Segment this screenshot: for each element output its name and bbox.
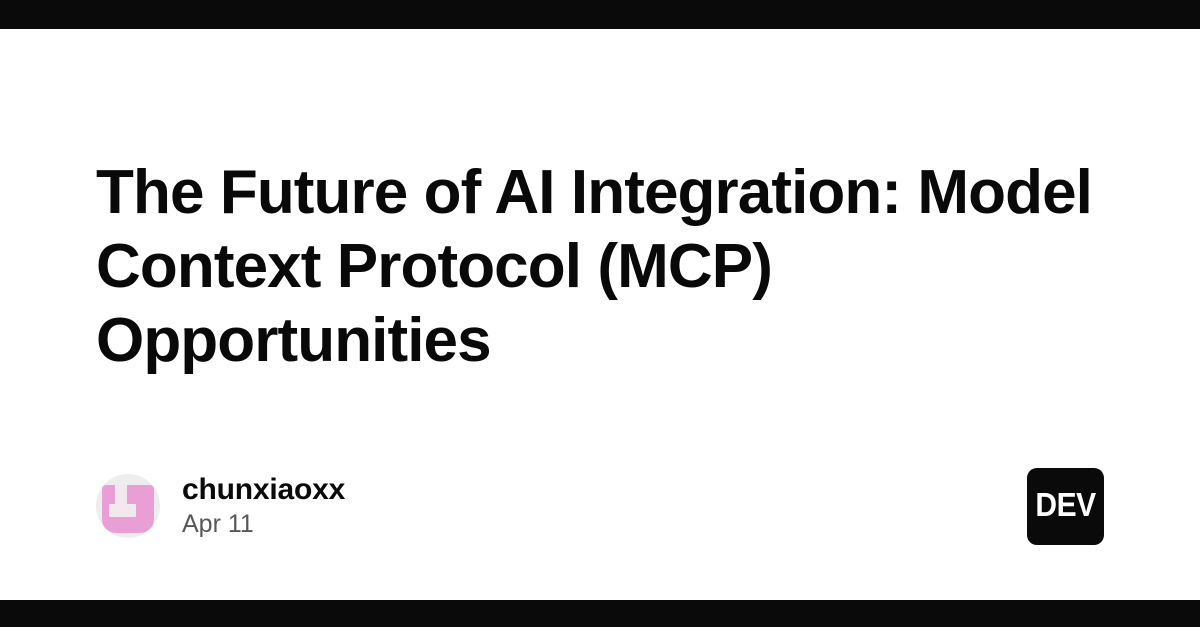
dev-social-card: The Future of AI Integration: Model Cont… — [0, 0, 1200, 627]
bottom-bar — [0, 600, 1200, 627]
author-text: chunxiaoxx Apr 11 — [182, 473, 345, 539]
avatar[interactable] — [96, 474, 160, 538]
dev-logo[interactable]: DEV — [1027, 468, 1104, 545]
author-block[interactable]: chunxiaoxx Apr 11 — [96, 473, 345, 539]
card-footer: chunxiaoxx Apr 11 DEV — [96, 466, 1104, 546]
dev-logo-text: DEV — [1035, 489, 1095, 523]
card-content: The Future of AI Integration: Model Cont… — [96, 29, 1104, 600]
avatar-notch-bar-icon — [109, 504, 136, 517]
top-bar — [0, 0, 1200, 29]
published-date: Apr 11 — [182, 509, 345, 539]
author-username[interactable]: chunxiaoxx — [182, 473, 345, 507]
page-title: The Future of AI Integration: Model Cont… — [96, 156, 1096, 378]
